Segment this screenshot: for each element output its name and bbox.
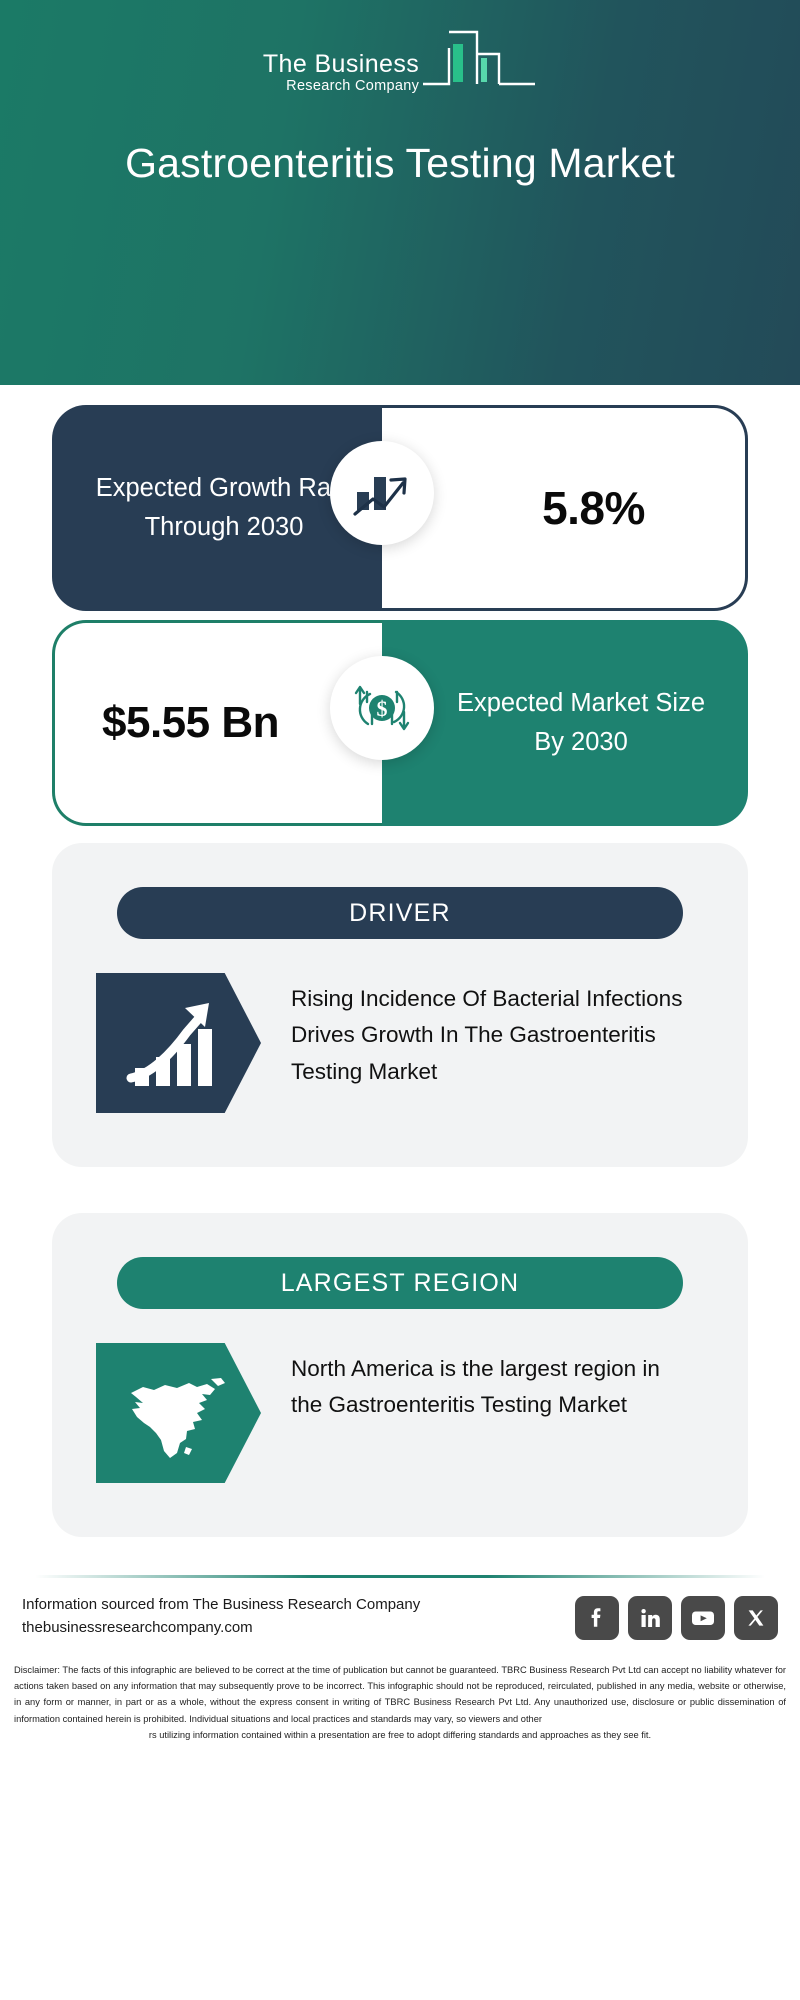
linkedin-icon[interactable] (628, 1596, 672, 1640)
footer-row: Information sourced from The Business Re… (0, 1578, 800, 1640)
market-size-label: Expected Market Size By 2030 (448, 684, 714, 763)
svg-text:$: $ (377, 696, 388, 721)
largest-region-pill: LARGEST REGION (117, 1257, 683, 1309)
logo-line-2: Research Company (263, 77, 419, 96)
largest-region-pill-label: LARGEST REGION (281, 1269, 520, 1298)
market-size-value: $5.55 Bn (102, 696, 279, 750)
growth-rate-value: 5.8% (542, 481, 645, 535)
facebook-icon[interactable] (575, 1596, 619, 1640)
disclaimer-text: Disclaimer: The facts of this infographi… (0, 1640, 800, 1743)
logo-wordmark: The Business Research Company (263, 51, 419, 102)
north-america-map-icon (96, 1343, 261, 1483)
footer-website-link[interactable]: thebusinessresearchcompany.com (22, 1617, 420, 1640)
logo-line-1: The Business (263, 51, 419, 77)
driver-text: Rising Incidence Of Bacterial Infections… (291, 973, 692, 1090)
driver-pill: DRIVER (117, 887, 683, 939)
dollar-circle-arrows-icon: $ (330, 656, 434, 760)
company-logo: The Business Research Company (0, 22, 800, 102)
bar-chart-arrow-up-icon (330, 441, 434, 545)
growth-rate-value-panel: 5.8% (382, 405, 748, 611)
growth-chart-arrow-icon (96, 973, 261, 1113)
footer-source: Information sourced from The Business Re… (22, 1594, 420, 1640)
market-size-card: $5.55 Bn Expected Market Size By 2030 $ (0, 600, 800, 815)
infographic-page: The Business Research Company Gastroente… (0, 0, 800, 2000)
largest-region-panel: LARGEST REGION North America is the larg… (52, 1213, 748, 1537)
disclaimer-body: Disclaimer: The facts of this infographi… (14, 1665, 786, 1724)
youtube-icon[interactable] (681, 1596, 725, 1640)
footer-source-line-1: Information sourced from The Business Re… (22, 1594, 420, 1617)
page-title: Gastroenteritis Testing Market (70, 136, 730, 190)
logo-bar-chart-icon (421, 22, 537, 99)
x-twitter-icon[interactable] (734, 1596, 778, 1640)
disclaimer-last-line: rs utilizing information contained withi… (14, 1727, 786, 1743)
hero-banner: The Business Research Company Gastroente… (0, 0, 800, 385)
growth-rate-label: Expected Growth Rate Through 2030 (92, 469, 356, 548)
driver-pill-label: DRIVER (349, 899, 451, 928)
largest-region-text: North America is the largest region in t… (291, 1343, 692, 1424)
driver-panel: DRIVER Rising Incidence Of Bacterial Inf… (52, 843, 748, 1167)
growth-rate-card: Expected Growth Rate Through 2030 5.8% (0, 385, 800, 600)
social-links (575, 1594, 778, 1640)
market-size-label-panel: Expected Market Size By 2030 (382, 620, 748, 826)
